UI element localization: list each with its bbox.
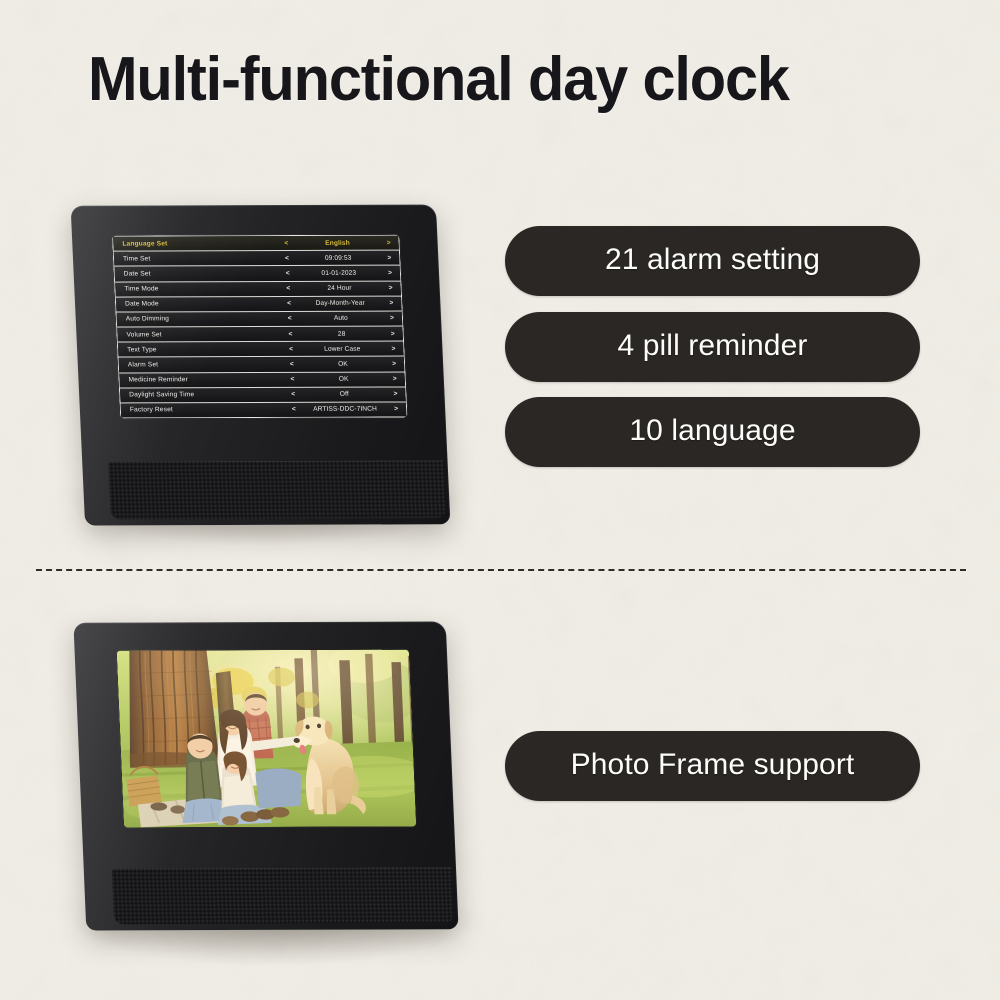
chevron-left-icon[interactable]: < [280,315,300,322]
feature-pill-label: 10 language [629,414,795,451]
page-title: Multi-functional day clock [88,44,894,115]
chevron-left-icon[interactable]: < [277,255,297,262]
chevron-left-icon[interactable]: < [279,300,299,307]
settings-row-value: ARTISS-DDC-7INCH [304,406,387,413]
chevron-right-icon[interactable]: > [383,330,403,337]
chevron-left-icon[interactable]: < [281,346,301,353]
chevron-right-icon[interactable]: > [379,254,399,261]
settings-device-speaker-grille [108,460,446,519]
chevron-left-icon[interactable]: < [278,270,298,277]
settings-row-label: Language Set [113,240,276,248]
settings-row-label: Factory Reset [121,406,284,414]
settings-menu-row[interactable]: Daylight Saving Time<Off> [120,386,406,402]
settings-menu-row[interactable]: Alarm Set<OK> [118,356,404,372]
settings-row-value: OK [302,376,385,383]
photo-screen [117,650,417,828]
settings-menu-row[interactable]: Text Type<Lower Case> [118,341,404,357]
settings-row-value: Auto [300,315,383,322]
settings-row-label: Date Mode [116,300,279,308]
feature-pill-pill-reminder[interactable]: 4 pill reminder [505,312,920,382]
chevron-right-icon[interactable]: > [381,300,401,307]
settings-row-value: OK [302,361,385,368]
settings-row-label: Volume Set [117,331,280,339]
feature-pill-language[interactable]: 10 language [505,397,920,467]
settings-row-label: Medicine Reminder [119,376,282,384]
settings-row-label: Auto Dimming [117,315,280,323]
feature-pill-label: 4 pill reminder [618,329,808,366]
settings-device: Language Set<English>Time Set<09:09:53>D… [71,205,451,526]
settings-menu-row[interactable]: Volume Set<28> [117,326,403,342]
chevron-right-icon[interactable]: > [378,239,398,246]
settings-row-value: Off [303,391,386,398]
chevron-left-icon[interactable]: < [284,406,304,413]
settings-row-value: Day-Month-Year [299,300,382,307]
settings-row-label: Time Mode [115,285,278,293]
settings-menu-row[interactable]: Time Set<09:09:53> [114,250,400,266]
photo-device-speaker-grille [112,867,455,924]
settings-menu-frame: Language Set<English>Time Set<09:09:53>D… [112,235,408,419]
chevron-right-icon[interactable]: > [384,360,404,367]
settings-row-label: Date Set [115,270,278,278]
chevron-left-icon[interactable]: < [276,240,296,247]
settings-row-label: Alarm Set [119,361,282,369]
chevron-left-icon[interactable]: < [280,331,300,338]
settings-row-value: Lower Case [301,345,384,352]
settings-row-value: 28 [300,330,383,337]
settings-menu-row[interactable]: Medicine Reminder<OK> [119,371,405,387]
settings-row-value: 01-01-2023 [298,270,381,277]
photo-device [73,621,458,930]
chevron-right-icon[interactable]: > [385,391,405,398]
settings-menu-row[interactable]: Language Set<English> [113,236,399,251]
settings-row-label: Daylight Saving Time [120,391,283,399]
photo-frame-image [117,650,417,828]
settings-row-value: 09:09:53 [297,254,380,261]
photo-screen-bezel [117,650,417,828]
settings-menu-list[interactable]: Language Set<English>Time Set<09:09:53>D… [113,236,406,418]
settings-menu-row[interactable]: Date Mode<Day-Month-Year> [116,295,402,311]
section-divider [36,569,966,571]
settings-screen-bezel: Language Set<English>Time Set<09:09:53>D… [112,235,408,419]
chevron-right-icon[interactable]: > [383,345,403,352]
feature-pill-photo-frame-support[interactable]: Photo Frame support [505,731,920,801]
chevron-left-icon[interactable]: < [278,285,298,292]
chevron-left-icon[interactable]: < [283,391,303,398]
settings-screen: Language Set<English>Time Set<09:09:53>D… [112,235,408,419]
chevron-left-icon[interactable]: < [282,376,302,383]
feature-pill-label: 21 alarm setting [605,243,820,280]
chevron-left-icon[interactable]: < [282,361,302,368]
chevron-right-icon[interactable]: > [386,406,406,413]
settings-menu-row[interactable]: Factory Reset<ARTISS-DDC-7INCH> [121,401,407,417]
feature-pill-label: Photo Frame support [571,748,855,785]
settings-menu-row[interactable]: Auto Dimming<Auto> [116,310,402,326]
settings-row-label: Time Set [114,255,277,263]
chevron-right-icon[interactable]: > [382,315,402,322]
feature-pill-alarm-setting[interactable]: 21 alarm setting [505,226,920,296]
settings-row-value: 24 Hour [298,285,381,292]
chevron-right-icon[interactable]: > [381,285,401,292]
settings-menu-row[interactable]: Time Mode<24 Hour> [115,280,401,296]
chevron-right-icon[interactable]: > [380,270,400,277]
settings-row-label: Text Type [118,346,281,354]
settings-menu-row[interactable]: Date Set<01-01-2023> [114,265,400,281]
chevron-right-icon[interactable]: > [385,376,405,383]
settings-row-value: English [296,239,379,246]
